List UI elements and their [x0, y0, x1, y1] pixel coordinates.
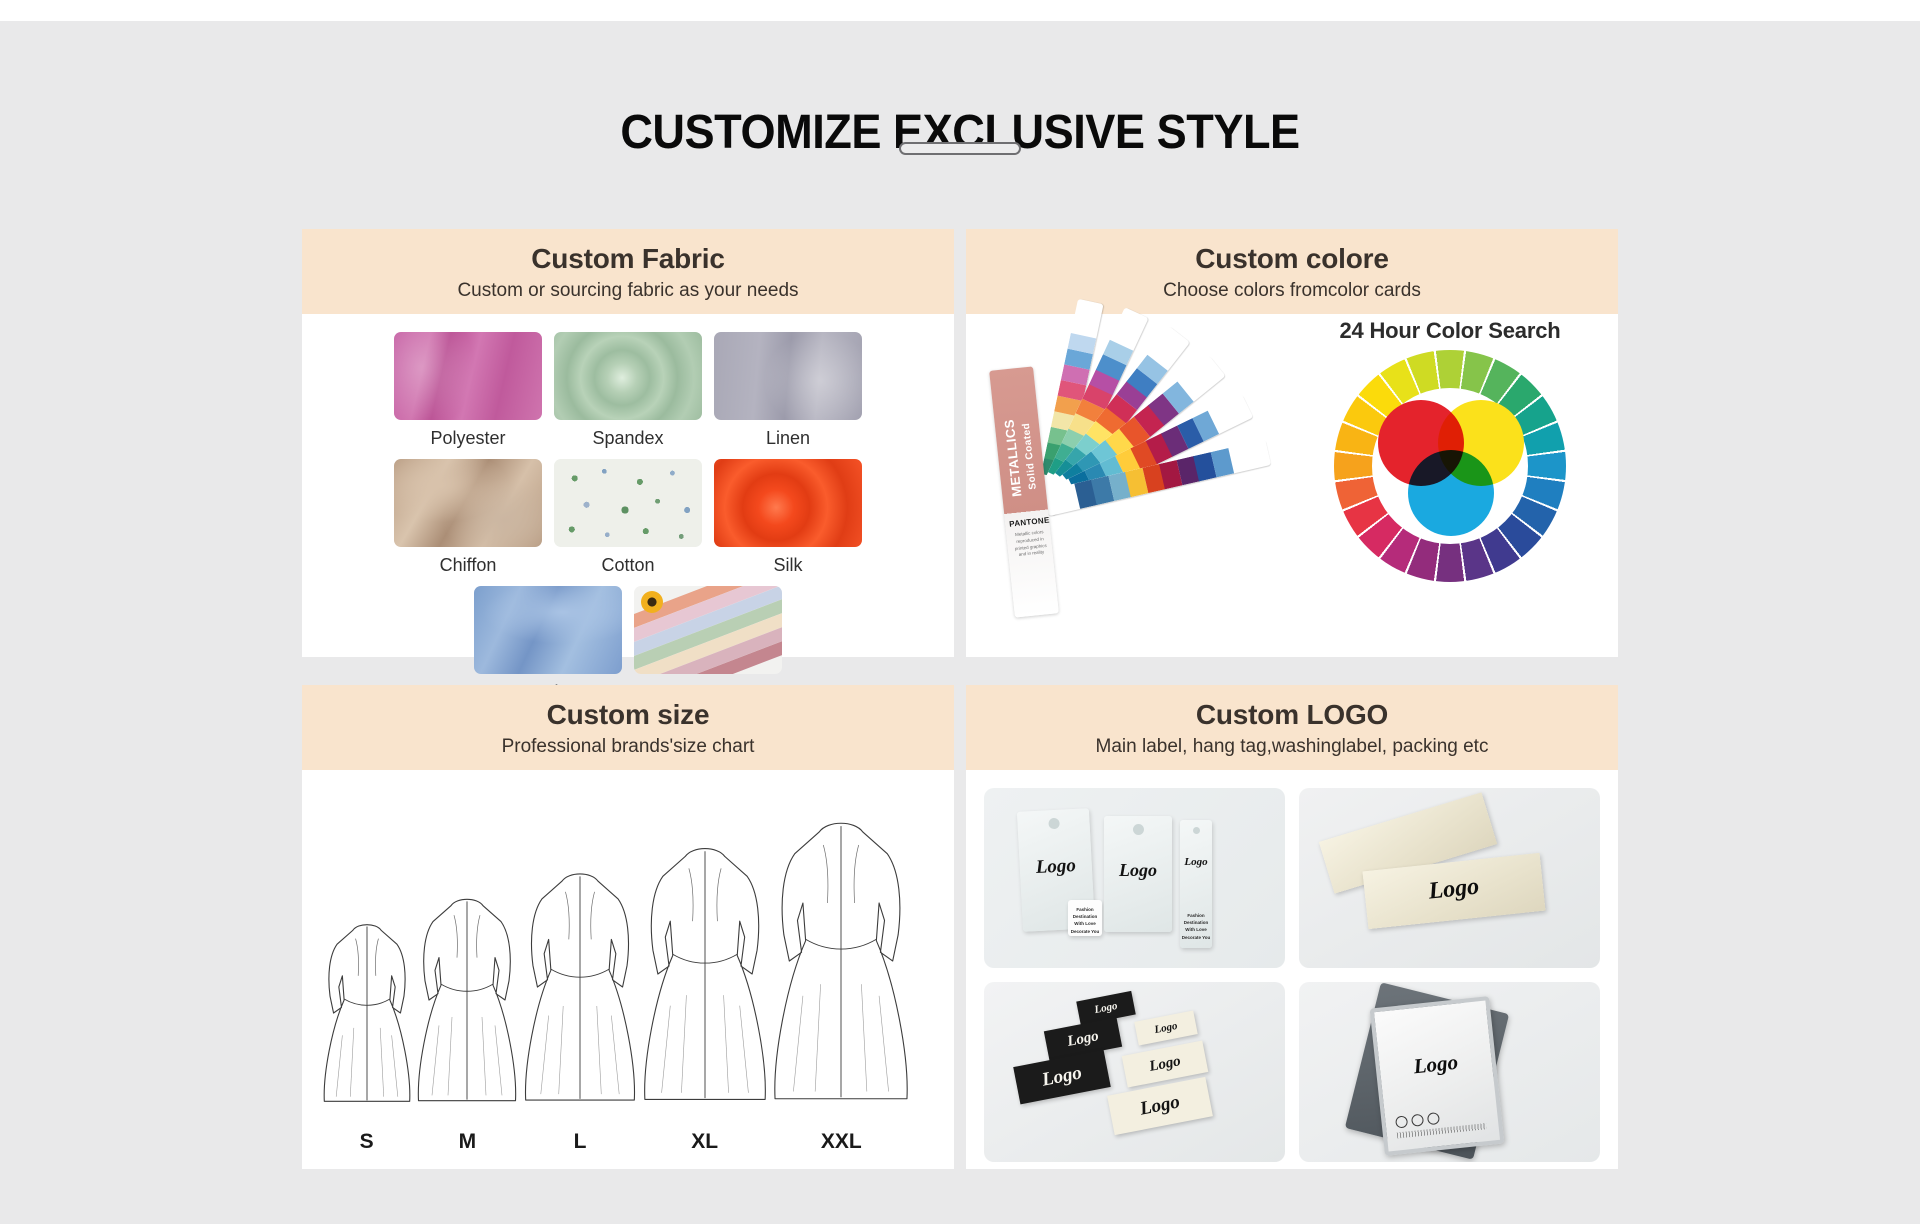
panels-grid: Custom Fabric Custom or sourcing fabric …: [302, 229, 1618, 1169]
dress-silhouette-xxl: [773, 816, 909, 1106]
size-label-xxl: XXL: [821, 1130, 862, 1154]
panel-custom-fabric: Custom Fabric Custom or sourcing fabric …: [302, 229, 954, 657]
label-logo-text: Logo: [1066, 1028, 1100, 1051]
fabric-item-spandex[interactable]: Spandex: [554, 332, 702, 449]
panel-body-color: METALLICS Solid Coated PANTONE Metallic …: [966, 314, 1618, 654]
size-label-row: SMLXLXXL: [302, 1130, 954, 1160]
panel-body-logo: Logo FashionDestinationWith LoveDecorate…: [966, 770, 1618, 1180]
tag-hole: [1193, 827, 1200, 834]
size-label-s: S: [360, 1130, 374, 1154]
dress-silhouette-l: [524, 868, 636, 1106]
fabric-item-cotton[interactable]: Cotton: [554, 459, 702, 576]
hang-tag-care-slip: FashionDestinationWith LoveDecorate You: [1068, 900, 1102, 936]
fandeck-fine-print: Metallic colorsreproduced inprinted grap…: [1011, 529, 1050, 560]
panel-body-fabric: Polyester Spandex Linen Chiffon: [302, 314, 954, 713]
fabric-label: Linen: [714, 428, 862, 449]
dress-size-chart-image: [316, 776, 940, 1106]
no-tumble-dry-icon: [1411, 1114, 1424, 1127]
panel-title-color: Custom colore: [976, 243, 1608, 275]
label-black-large: Logo: [1013, 1050, 1111, 1105]
panel-body-size: SMLXLXXL: [302, 770, 954, 1166]
logo-image-grid: Logo FashionDestinationWith LoveDecorate…: [966, 770, 1618, 1180]
chiffon-swatch-image: [394, 459, 542, 547]
page-background: CUSTOMIZE EXCLUSIVE STYLE Custom Fabric …: [0, 21, 1920, 1224]
fabric-item-polyester[interactable]: Polyester: [394, 332, 542, 449]
color-wheel-title: 24 Hour Color Search: [1300, 318, 1600, 344]
silk-swatch-image: [714, 459, 862, 547]
label-logo-text: Logo: [1153, 1020, 1178, 1036]
panel-custom-color: Custom colore Choose colors fromcolor ca…: [966, 229, 1618, 657]
tag-hole: [1048, 818, 1060, 830]
label-logo-text: Logo: [1148, 1053, 1182, 1076]
size-label-l: L: [574, 1130, 587, 1154]
dress-silhouette-m: [417, 894, 517, 1106]
tag-fine-print: FashionDestinationWith LoveDecorate You: [1180, 912, 1212, 941]
panel-header-fabric: Custom Fabric Custom or sourcing fabric …: [302, 229, 954, 314]
panel-header-size: Custom size Professional brands'size cha…: [302, 685, 954, 770]
tag-fine-print: FashionDestinationWith LoveDecorate You: [1068, 906, 1102, 935]
panel-title-logo: Custom LOGO: [976, 699, 1608, 731]
tag-logo-text: Logo: [1019, 854, 1092, 880]
tag-hole: [1133, 824, 1144, 835]
logo-item-hang-tags[interactable]: Logo FashionDestinationWith LoveDecorate…: [984, 788, 1285, 968]
title-divider: [899, 142, 1021, 155]
packaging-bag-front: Logo: [1370, 996, 1505, 1156]
woven-logo-text: Logo: [1364, 867, 1544, 912]
sunflower-icon: [641, 591, 663, 613]
fabric-swatch-grid: Polyester Spandex Linen Chiffon: [302, 314, 954, 713]
tag-logo-text: Logo: [1104, 860, 1172, 881]
fabric-label: Spandex: [554, 428, 702, 449]
dress-silhouette-s: [323, 920, 411, 1106]
care-symbol-icons: [1395, 1112, 1440, 1129]
tag-logo-text: Logo: [1180, 856, 1212, 868]
panel-header-color: Custom colore Choose colors fromcolor ca…: [966, 229, 1618, 314]
label-cream-large: Logo: [1107, 1077, 1213, 1135]
cotton-swatch-image: [554, 459, 702, 547]
panel-custom-logo: Custom LOGO Main label, hang tag,washing…: [966, 685, 1618, 1169]
label-logo-text: Logo: [1138, 1091, 1182, 1120]
warning-icon: [1427, 1112, 1440, 1125]
panel-title-size: Custom size: [312, 699, 944, 731]
panel-subtitle-color: Choose colors fromcolor cards: [976, 280, 1608, 302]
panel-subtitle-size: Professional brands'size chart: [312, 736, 944, 758]
dress-silhouette-xl: [643, 842, 767, 1106]
label-cream-small: Logo: [1134, 1010, 1197, 1045]
panel-subtitle-logo: Main label, hang tag,washinglabel, packi…: [976, 736, 1608, 758]
fabric-label: Cotton: [554, 555, 702, 576]
panel-subtitle-fabric: Custom or sourcing fabric as your needs: [312, 280, 944, 302]
label-logo-text: Logo: [1093, 1000, 1118, 1016]
pantone-fandeck-image: METALLICS Solid Coated PANTONE Metallic …: [988, 330, 1266, 630]
custom-swatch-image: [634, 586, 782, 674]
polyester-swatch-image: [394, 332, 542, 420]
color-wheel-block: 24 Hour Color Search: [1300, 318, 1600, 638]
fabric-item-silk[interactable]: Silk: [714, 459, 862, 576]
no-bleach-icon: [1395, 1115, 1408, 1128]
size-label-m: M: [459, 1130, 477, 1154]
bag-logo-text: Logo: [1379, 1046, 1493, 1083]
panel-title-fabric: Custom Fabric: [312, 243, 944, 275]
color-wheel[interactable]: [1334, 350, 1566, 582]
fandeck-spine-text: METALLICS Solid Coated: [999, 381, 1044, 533]
fabric-label: Chiffon: [394, 555, 542, 576]
label-logo-text: Logo: [1040, 1062, 1084, 1091]
cyan-circle: [1408, 450, 1494, 536]
fabric-item-chiffon[interactable]: Chiffon: [394, 459, 542, 576]
fabric-item-linen[interactable]: Linen: [714, 332, 862, 449]
cmy-mix-circles: [1334, 350, 1566, 582]
linen-swatch-image: [714, 332, 862, 420]
logo-item-printed-labels[interactable]: Logo Logo Logo Logo Logo Logo: [984, 982, 1285, 1162]
fabric-label: Silk: [714, 555, 862, 576]
fabric-label: Polyester: [394, 428, 542, 449]
hang-tag-narrow: Logo FashionDestinationWith LoveDecorate…: [1180, 820, 1212, 948]
hang-tag-medium: Logo: [1104, 816, 1172, 932]
satin-swatch-image: [474, 586, 622, 674]
spandex-swatch-image: [554, 332, 702, 420]
panel-custom-size: Custom size Professional brands'size cha…: [302, 685, 954, 1169]
logo-item-packaging-bags[interactable]: Logo: [1299, 982, 1600, 1162]
panel-header-logo: Custom LOGO Main label, hang tag,washing…: [966, 685, 1618, 770]
logo-item-woven-labels[interactable]: Logo: [1299, 788, 1600, 968]
size-label-xl: XL: [691, 1130, 718, 1154]
